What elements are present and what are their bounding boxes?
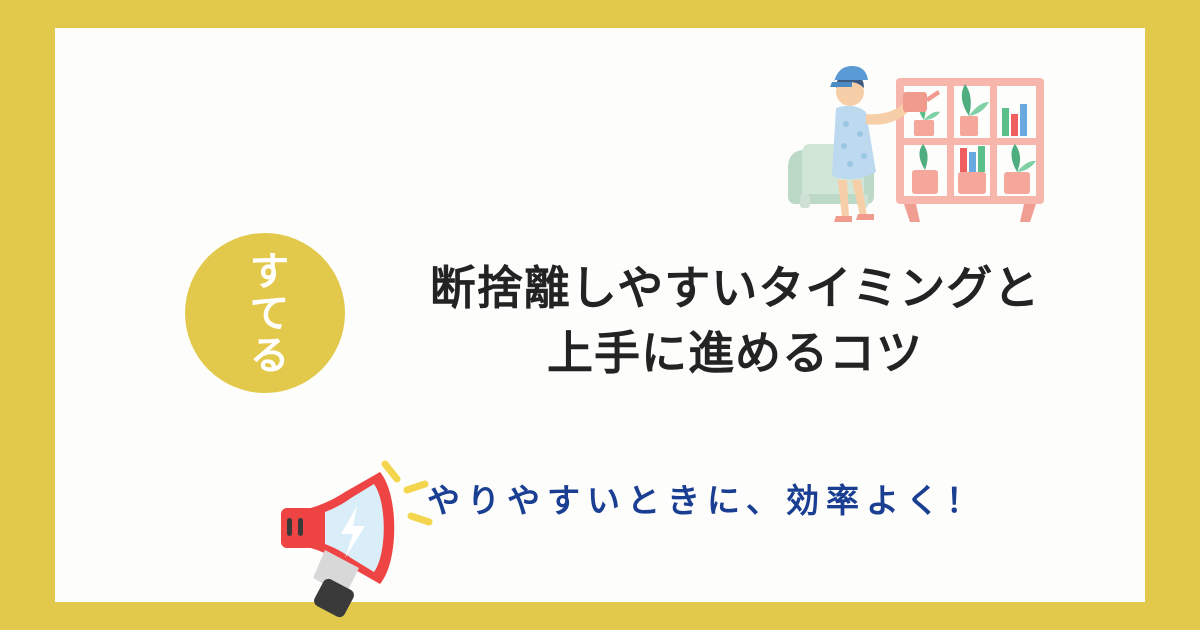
megaphone-icon	[273, 446, 443, 621]
page-title: 断捨離しやすいタイミングと 上手に進めるコツ	[355, 256, 1115, 387]
page-title-line-2: 上手に進めるコツ	[355, 321, 1115, 386]
category-badge: すてる	[185, 233, 345, 393]
subtitle: やりやすいときに、効率よく！	[427, 480, 1167, 523]
woman-with-bookshelf-illustration	[780, 42, 1050, 232]
page-title-line-1: 断捨離しやすいタイミングと	[355, 256, 1115, 321]
category-badge-label: すてる	[241, 250, 288, 376]
thumbnail-canvas: すてる 断捨離しやすいタイミングと 上手に進めるコツ やりやすいときに、効率よく…	[0, 0, 1200, 630]
